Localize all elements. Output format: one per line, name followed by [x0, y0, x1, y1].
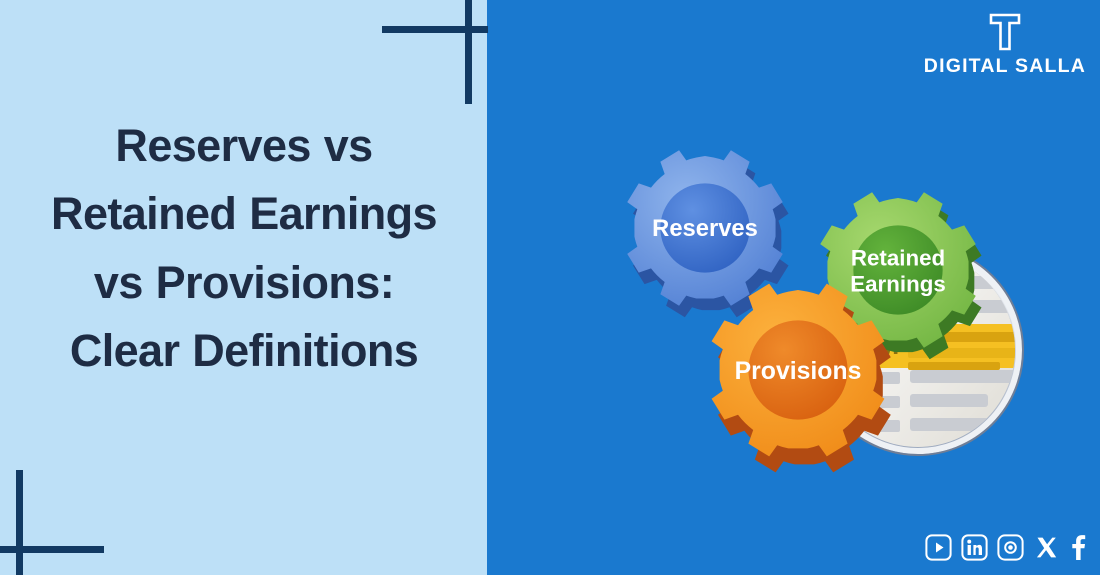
crosshair-decoration-top — [382, 0, 488, 104]
crosshair-vertical-bar — [16, 470, 23, 575]
crosshair-decoration-bottom — [0, 470, 106, 575]
linkedin-icon[interactable] — [961, 534, 988, 561]
brand-logo: DIGITAL SALLA — [924, 12, 1086, 78]
facebook-icon[interactable] — [1069, 534, 1088, 561]
crosshair-vertical-bar — [465, 0, 472, 104]
gears-illustration: M Reserves Retained — [500, 120, 1100, 480]
instagram-icon[interactable] — [997, 534, 1024, 561]
gear-label-reserves: Reserves — [652, 215, 758, 242]
x-twitter-icon[interactable] — [1033, 534, 1060, 561]
crosshair-horizontal-bar — [382, 26, 488, 33]
page-title: Reserves vs Retained Earnings vs Provisi… — [42, 112, 446, 386]
logo-wordmark: DIGITAL SALLA — [924, 55, 1086, 78]
poster-canvas: Reserves vs Retained Earnings vs Provisi… — [0, 0, 1100, 575]
gear-label-earnings: Earnings — [850, 272, 945, 297]
gear-label-provisions: Provisions — [735, 358, 862, 385]
letter-t-outline-icon — [987, 12, 1023, 52]
youtube-icon[interactable] — [925, 534, 952, 561]
social-links — [925, 534, 1088, 561]
gear-label-retained: Retained — [851, 246, 945, 271]
